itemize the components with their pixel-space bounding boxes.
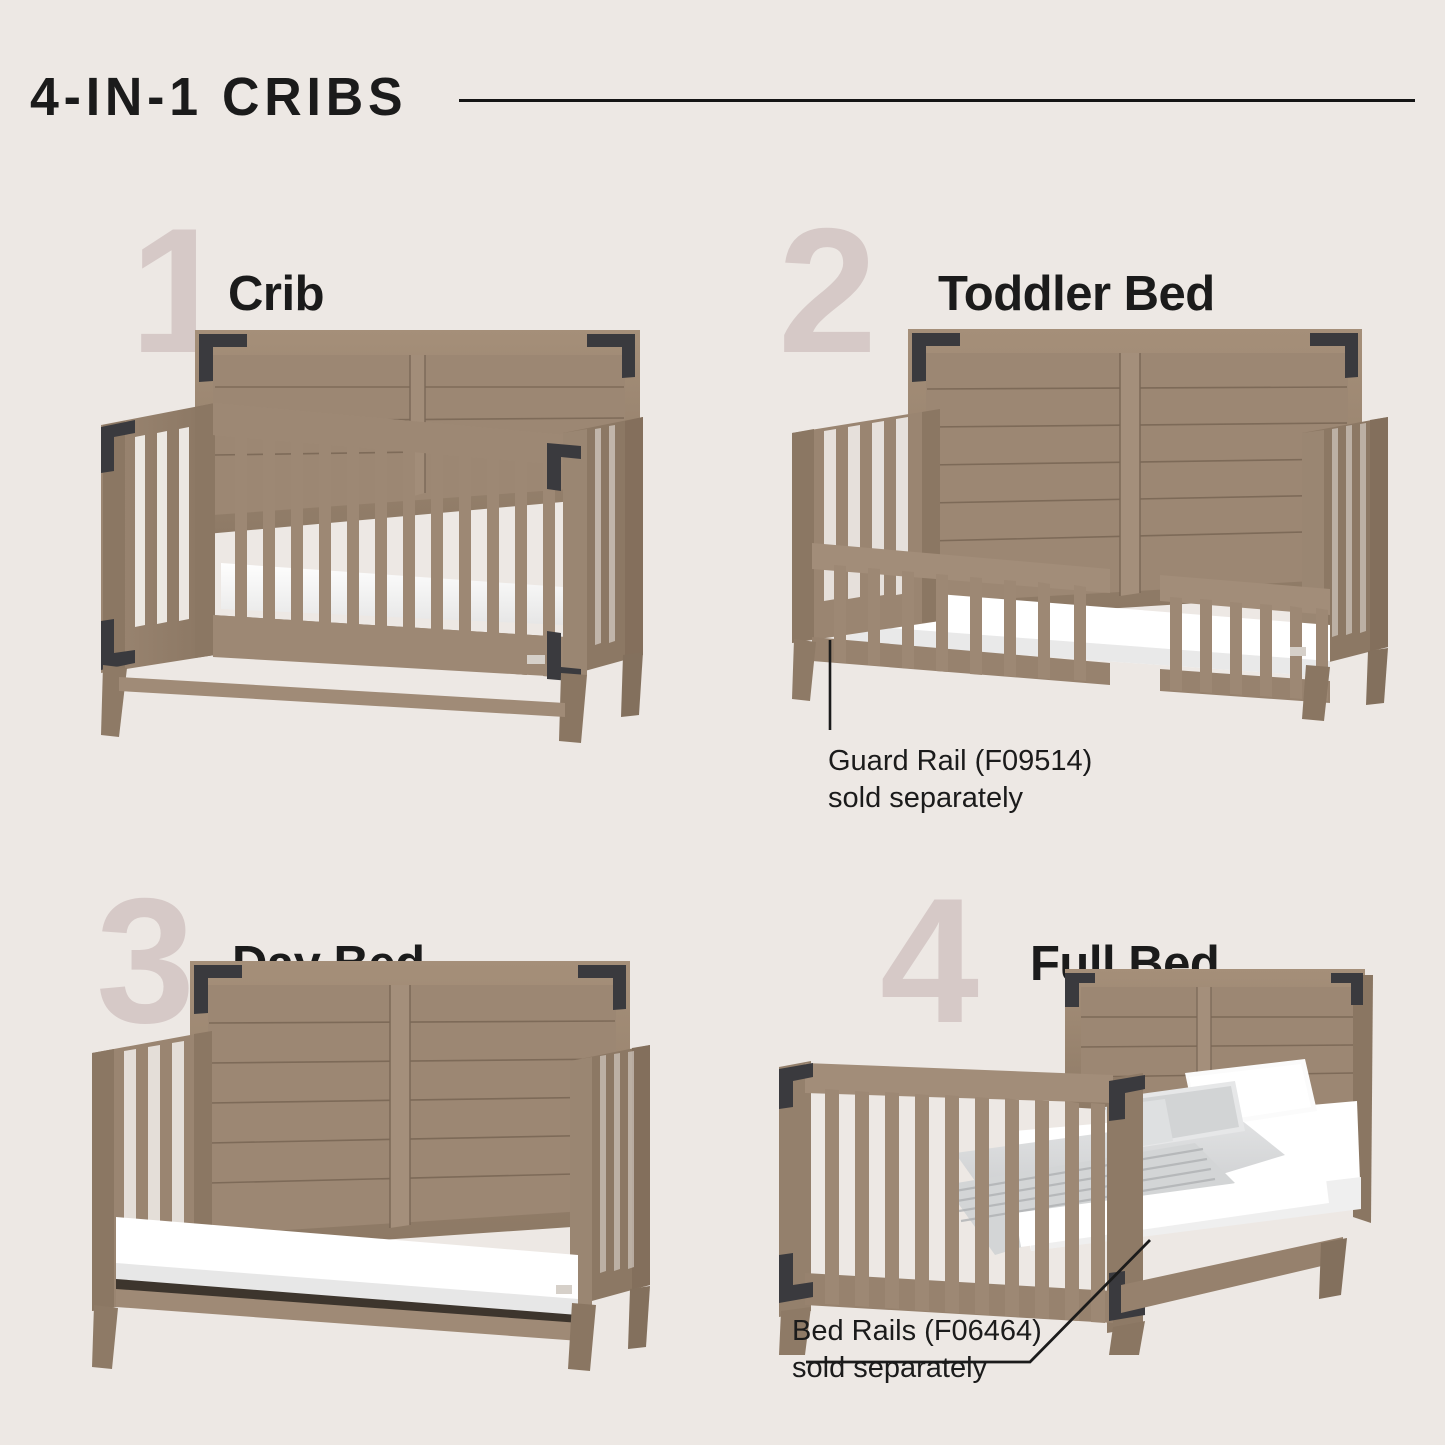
step-header-crib: 1 Crib bbox=[0, 190, 720, 340]
crib-illustration bbox=[95, 325, 655, 745]
daybed-headboard bbox=[190, 961, 630, 1253]
infographic-stage: 4-IN-1 CRIBS 1 Crib bbox=[0, 0, 1445, 1445]
crib-front-slats-overlay bbox=[213, 403, 565, 677]
step-label-toddler-bed: Toddler Bed bbox=[938, 270, 1215, 319]
brand-plate bbox=[527, 655, 545, 664]
step-label-crib: Crib bbox=[228, 270, 324, 319]
page-title: 4-IN-1 CRIBS bbox=[30, 70, 407, 124]
crib-bottom-stretcher bbox=[119, 677, 565, 717]
step-panel-crib: 1 Crib bbox=[0, 190, 720, 840]
brand-plate bbox=[556, 1285, 572, 1294]
guard-rail-callout: Guard Rail (F09514) sold separately bbox=[828, 743, 1092, 817]
step-panel-toddler-bed: 2 Toddler Bed bbox=[700, 190, 1445, 840]
toddler-bed-illustration bbox=[790, 325, 1400, 725]
guard-rail-left bbox=[792, 409, 940, 643]
brand-plate bbox=[1290, 647, 1306, 656]
fullbed-side-rail bbox=[1121, 1237, 1343, 1313]
full-bed-illustration bbox=[765, 955, 1385, 1355]
crib-left-end-panel bbox=[101, 403, 215, 673]
step-panel-day-bed: 3 Day Bed bbox=[0, 840, 720, 1445]
daybed-right-end-panel bbox=[570, 1045, 650, 1307]
step-header-toddler-bed: 2 Toddler Bed bbox=[700, 190, 1445, 340]
page-header: 4-IN-1 CRIBS bbox=[30, 62, 1415, 132]
header-divider-rule bbox=[459, 99, 1415, 102]
day-bed-illustration bbox=[90, 955, 660, 1375]
step-panel-full-bed: 4 Full Bed bbox=[700, 840, 1445, 1445]
bed-rails-callout: Bed Rails (F06464) sold separately bbox=[792, 1313, 1042, 1387]
